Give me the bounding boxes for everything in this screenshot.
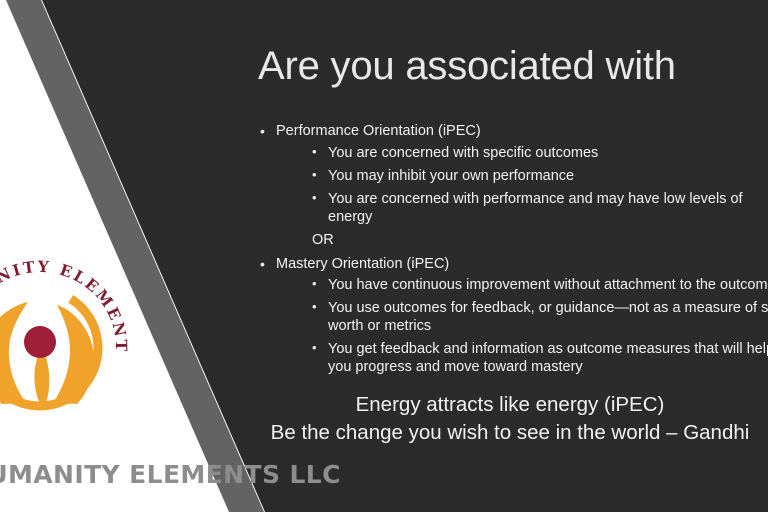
slide-canvas: HUMANITY ELEMENTS COACHING AND CONSULTIN… — [0, 0, 768, 512]
sub-bullet: You have continuous improvement without … — [276, 277, 768, 294]
sub-bullet-line: You have continuous improvement without … — [328, 277, 768, 294]
sub-bullet-line: You are concerned with performance and m… — [328, 191, 768, 208]
closing-quote: Energy attracts like energy (iPEC) Be th… — [252, 392, 768, 446]
quote-line-2: Be the change you wish to see in the wor… — [252, 420, 768, 447]
bullet-label: Performance Orientation (iPEC) — [276, 123, 481, 139]
logo-arc-text: HUMANITY ELEMENTS — [0, 236, 131, 354]
company-logo: HUMANITY ELEMENTS COACHING AND CONSULTIN… — [0, 236, 136, 411]
brand-footer-text: HUMANITY ELEMENTS LLC — [0, 460, 226, 489]
logo-leaf-left — [0, 302, 28, 404]
bullet-mastery-orientation: Mastery Orientation (iPEC) You have cont… — [252, 255, 768, 377]
bullet-label: Mastery Orientation (iPEC) — [276, 256, 449, 272]
sub-bullet-line-wrap: energy — [328, 209, 768, 226]
sub-bullet-line: You get feedback and information as outc… — [328, 341, 768, 358]
sub-bullet: You are concerned with performance and m… — [276, 191, 768, 226]
svg-text:HUMANITY ELEMENTS: HUMANITY ELEMENTS — [0, 236, 131, 354]
or-separator: OR — [276, 232, 768, 249]
sub-bullet-line: You may inhibit your own performance — [328, 168, 768, 185]
slide-title: Are you associated with — [258, 44, 676, 89]
sub-bullet: You get feedback and information as outc… — [276, 341, 768, 376]
sub-bullet: You use outcomes for feedback, or guidan… — [276, 300, 768, 335]
sub-bullet-line-wrap: worth or metrics — [328, 318, 768, 335]
logo-center-dot — [24, 326, 56, 358]
bullet-performance-orientation: Performance Orientation (iPEC) You are c… — [252, 122, 768, 250]
bullet-list-level2: You have continuous improvement without … — [276, 277, 768, 376]
sub-bullet: You may inhibit your own performance — [276, 168, 768, 185]
bullet-list-level2: You are concerned with specific outcomes… — [276, 145, 768, 227]
quote-line-1: Energy attracts like energy (iPEC) — [252, 392, 768, 418]
sub-bullet-line-wrap: you progress and move toward mastery — [328, 359, 768, 376]
sub-bullet: You are concerned with specific outcomes — [276, 145, 768, 162]
sub-bullet-line: You use outcomes for feedback, or guidan… — [328, 300, 768, 317]
slide-body: Performance Orientation (iPEC) You are c… — [252, 122, 768, 382]
sub-bullet-line: You are concerned with specific outcomes — [328, 145, 768, 162]
bullet-list-level1: Performance Orientation (iPEC) You are c… — [252, 122, 768, 376]
